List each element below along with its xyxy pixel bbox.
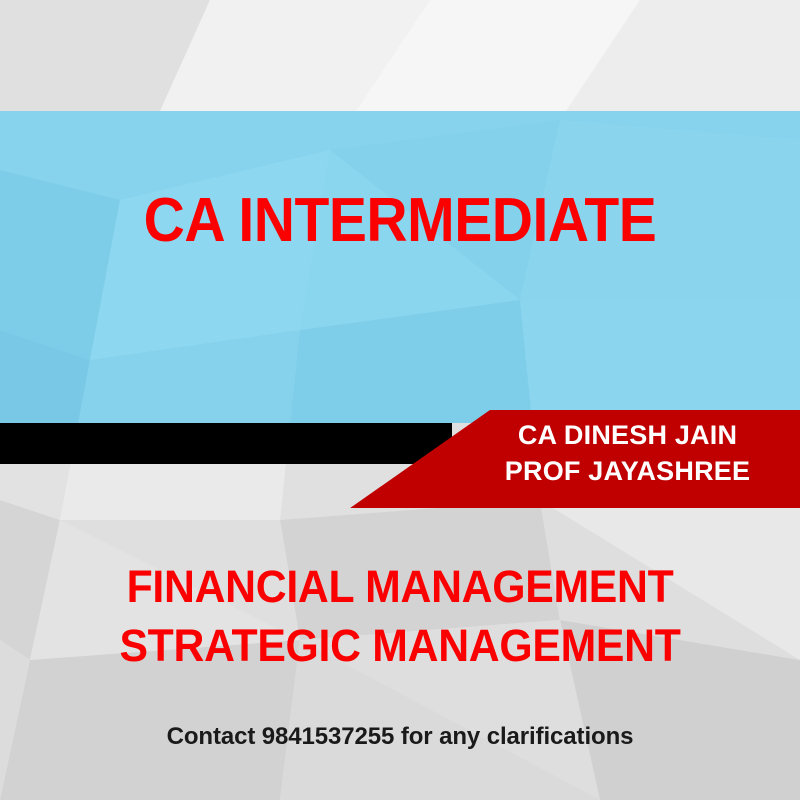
course-poster: CA INTERMEDIATE CA DINESH JAIN PROF JAYA… (0, 0, 800, 800)
presenter-name-primary: CA DINESH JAIN (455, 418, 800, 454)
blue-band-low-poly-pattern (0, 111, 800, 423)
blue-header-band (0, 111, 800, 423)
subject-financial-management: FINANCIAL MANAGEMENT (20, 557, 780, 616)
subject-list: FINANCIAL MANAGEMENT STRATEGIC MANAGEMEN… (20, 557, 780, 676)
subject-strategic-management: STRATEGIC MANAGEMENT (20, 616, 780, 675)
contact-line: Contact 9841537255 for any clarification… (0, 723, 800, 751)
black-accent-bar (0, 423, 452, 464)
presenter-names: CA DINESH JAIN PROF JAYASHREE (455, 418, 800, 489)
presenter-name-secondary: PROF JAYASHREE (455, 454, 800, 490)
page-title: CA INTERMEDIATE (32, 190, 768, 252)
